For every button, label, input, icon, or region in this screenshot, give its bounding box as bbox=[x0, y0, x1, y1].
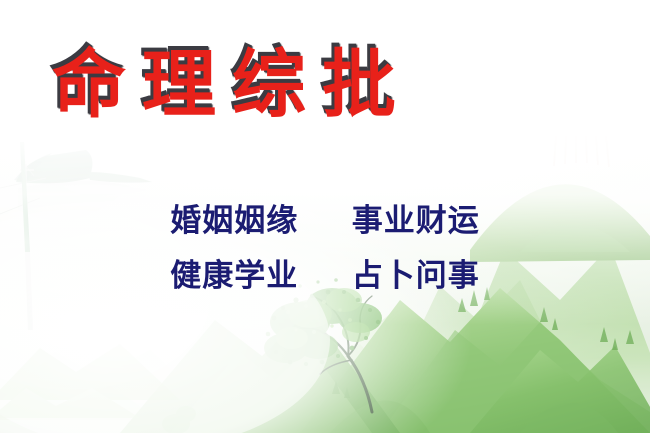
subtitle-1-right: 事业财运 bbox=[352, 206, 480, 237]
poster-canvas: 命理综批 婚姻姻缘 事业财运 健康学业 占卜问事 bbox=[0, 0, 650, 433]
pagoda-icon bbox=[533, 29, 631, 167]
title-block: 命理综批 bbox=[0, 48, 448, 122]
subtitle-block: 婚姻姻缘 事业财运 健康学业 占卜问事 bbox=[0, 206, 650, 292]
subtitle-line-2: 健康学业 占卜问事 bbox=[0, 261, 650, 292]
subtitle-line-1: 婚姻姻缘 事业财运 bbox=[0, 206, 650, 237]
subtitle-2-right: 占卜问事 bbox=[352, 261, 480, 292]
subtitle-2-left: 健康学业 bbox=[170, 261, 298, 292]
poster-title: 命理综批 bbox=[36, 48, 412, 122]
subtitle-1-left: 婚姻姻缘 bbox=[170, 206, 298, 237]
